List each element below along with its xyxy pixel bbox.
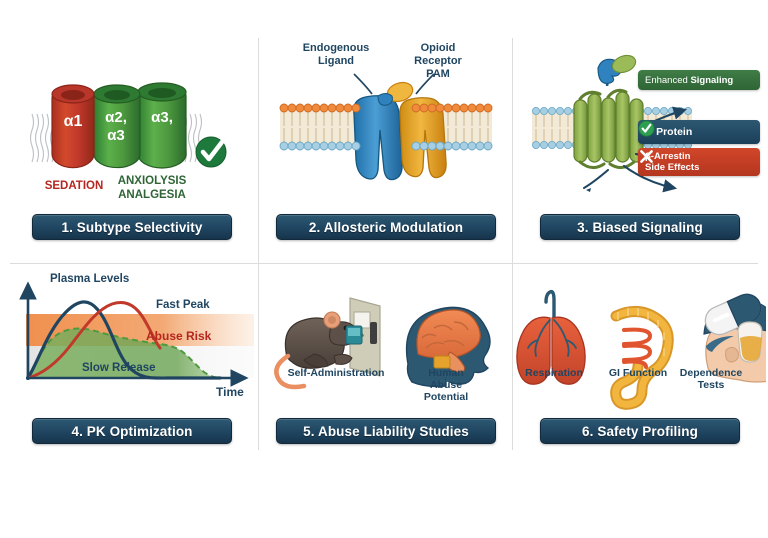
panel-banner-abuse-liability-studies[interactable]: 5. Abuse Liability Studies xyxy=(276,418,496,444)
svg-text:α3: α3 xyxy=(107,127,125,144)
label-respiration: Respiration xyxy=(525,367,583,379)
svg-text:ANXIOLYSIS: ANXIOLYSIS xyxy=(118,175,187,187)
grid-divider-horizontal xyxy=(10,263,758,264)
label-gi-function: GI Function xyxy=(609,367,667,379)
panel-pk-optimization: Fast Peak Abuse Risk Slow Release Plasma… xyxy=(4,268,258,481)
panel-banner-label: 6. Safety Profiling xyxy=(582,424,698,439)
svg-text:Fast Peak: Fast Peak xyxy=(156,299,210,311)
label-human-abuse-potential: Human Abuse Potential xyxy=(413,367,479,403)
art-gpcr-biased-signaling: Enhanced Signaling G Protein β-Arrestin … xyxy=(512,42,766,210)
label-self-administration: Self-Administration xyxy=(288,367,385,379)
panel-banner-biased-signaling[interactable]: 3. Biased Signaling xyxy=(540,214,740,240)
panel-banner-pk-optimization[interactable]: 4. PK Optimization xyxy=(32,418,232,444)
svg-text:α2,: α2, xyxy=(105,109,127,126)
panel-banner-label: 1. Subtype Selectivity xyxy=(61,220,202,235)
svg-text:ANALGESIA: ANALGESIA xyxy=(118,189,186,201)
panel-banner-label: 2. Allosteric Modulation xyxy=(309,220,463,235)
panel-safety-profiling: Respiration GI Function Dependence Tests… xyxy=(512,268,766,481)
tag-enhanced-signaling-label: Enhanced Signaling xyxy=(645,75,733,86)
art-gaba-receptor-subtypes: α1 α2, α3 α3, SEDATION ANXIOLYSIS ANALGE… xyxy=(4,42,258,210)
art-organs-safety xyxy=(512,268,766,418)
svg-text:Abuse Risk: Abuse Risk xyxy=(146,329,212,343)
panel-banner-allosteric-modulation[interactable]: 2. Allosteric Modulation xyxy=(276,214,496,240)
art-lipid-bilayer-receptor-pam: Endogenous Ligand Opioid Receptor PAM xyxy=(258,42,512,210)
panel-banner-safety-profiling[interactable]: 6. Safety Profiling xyxy=(540,418,740,444)
panel-banner-subtype-selectivity[interactable]: 1. Subtype Selectivity xyxy=(32,214,232,240)
panel-biased-signaling: Enhanced Signaling G Protein β-Arrestin … xyxy=(512,42,766,255)
svg-text:SEDATION: SEDATION xyxy=(45,180,104,192)
check-mark-icon xyxy=(196,137,226,167)
art-pk-curve-chart: Fast Peak Abuse Risk Slow Release Plasma… xyxy=(4,268,258,418)
panel-allosteric-modulation: Endogenous Ligand Opioid Receptor PAM 2.… xyxy=(258,42,512,255)
callout-endogenous-ligand: Endogenous Ligand xyxy=(303,42,370,68)
tag-enhanced-signaling[interactable]: Enhanced Signaling xyxy=(638,70,760,90)
figure-canvas: α1 α2, α3 α3, SEDATION ANXIOLYSIS ANALGE… xyxy=(0,0,768,538)
panel-banner-label: 3. Biased Signaling xyxy=(577,220,703,235)
label-dependence-tests: Dependence Tests xyxy=(680,367,742,391)
svg-text:α1: α1 xyxy=(64,113,83,130)
svg-text:α3,: α3, xyxy=(151,109,173,126)
panel-abuse-liability-studies: Self-Administration Human Abuse Potentia… xyxy=(258,268,512,481)
callout-opioid-receptor-pam: Opioid Receptor PAM xyxy=(401,42,475,81)
panel-subtype-selectivity: α1 α2, α3 α3, SEDATION ANXIOLYSIS ANALGE… xyxy=(4,42,258,255)
svg-text:Time: Time xyxy=(216,385,244,399)
svg-text:Plasma Levels: Plasma Levels xyxy=(50,273,129,285)
panel-banner-label: 5. Abuse Liability Studies xyxy=(303,424,469,439)
tag-beta-arrestin-side-effects[interactable]: β-Arrestin Side Effects xyxy=(638,148,760,176)
svg-text:Slow Release: Slow Release xyxy=(82,362,156,374)
tag-g-protein[interactable]: G Protein xyxy=(638,120,760,144)
panel-banner-label: 4. PK Optimization xyxy=(71,424,192,439)
